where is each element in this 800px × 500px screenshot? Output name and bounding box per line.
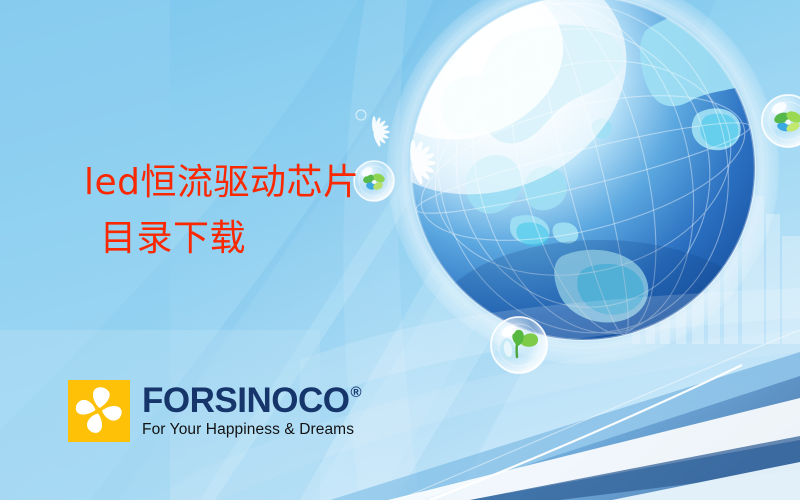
logo-wordmark-row: FORSINOCO ® <box>142 383 361 418</box>
logo-tagline: For Your Happiness & Dreams <box>142 421 361 438</box>
four-petal-pinwheel-icon <box>68 380 130 442</box>
logo-text-block: FORSINOCO ® For Your Happiness & Dreams <box>142 383 361 438</box>
banner-headline: led恒流驱动芯片 目录下载 <box>84 165 360 257</box>
headline-line-2: 目录下载 <box>84 221 360 257</box>
registered-trademark-icon: ® <box>350 385 361 400</box>
headline-line-1: led恒流驱动芯片 <box>84 165 360 201</box>
logo-wordmark: FORSINOCO <box>142 383 349 418</box>
banner-image: led恒流驱动芯片 目录下载 FORSINOCO ® For Your Happ… <box>0 0 800 500</box>
company-logo: FORSINOCO ® For Your Happiness & Dreams <box>68 380 361 442</box>
logo-mark-tile <box>68 380 130 442</box>
